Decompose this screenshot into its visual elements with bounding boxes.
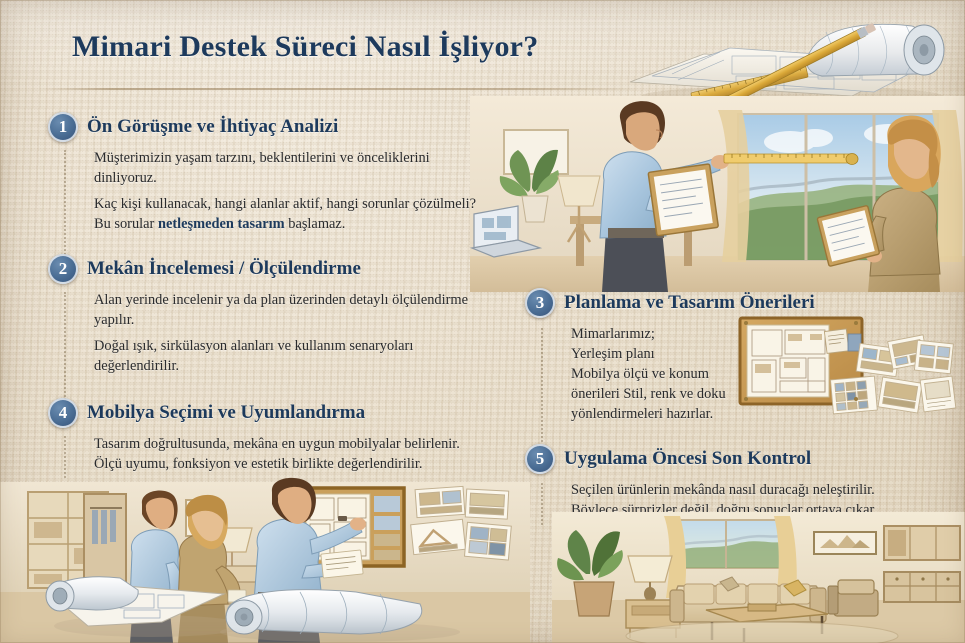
step-4-paragraph-1: Tasarım doğrultusunda, mekâna en uygun m… (94, 434, 518, 454)
infographic-poster: Mimari Destek Süreci Nasıl İşliyor? (0, 0, 965, 643)
step-2-number-badge: 2 (48, 254, 78, 284)
step-4: 4 Mobilya Seçimi ve Uyumlandırma Tasarım… (48, 398, 518, 474)
step-1-highlight: netleşmeden tasarım (158, 216, 285, 232)
step-1-header: 1 Ön Görüşme ve İhtiyaç Analizi (48, 112, 478, 142)
illustration-consultation-measuring-room (470, 96, 965, 292)
step-3-number-badge: 3 (525, 288, 555, 318)
step-5-title: Uygulama Öncesi Son Kontrol (564, 448, 811, 470)
step-2-title: Mekân İncelemesi / Ölçülendirme (87, 258, 361, 280)
step-4-body: Tasarım doğrultusunda, mekâna en uygun m… (94, 434, 518, 474)
step-5-paragraph-1: Seçilen ürünlerin mekânda nasıl duracağı… (571, 480, 955, 500)
illustration-pinboard-plans-samples (728, 312, 962, 430)
illustration-blueprint-roll-pencil-ruler (612, 4, 962, 106)
step-5: 5 Uygulama Öncesi Son Kontrol Seçilen ür… (525, 444, 955, 520)
step-2-paragraph-1: Alan yerinde incelenir ya da plan üzerin… (94, 290, 488, 330)
step-5-number-badge: 5 (525, 444, 555, 474)
step-1-highlight-tail: başlamaz. (285, 216, 346, 232)
step-4-header: 4 Mobilya Seçimi ve Uyumlandırma (48, 398, 518, 428)
page-title: Mimari Destek Süreci Nasıl İşliyor? (72, 30, 538, 64)
step-4-number-badge: 4 (48, 398, 78, 428)
step-4-title: Mobilya Seçimi ve Uyumlandırma (87, 402, 365, 424)
step-2-body: Alan yerinde incelenir ya da plan üzerin… (94, 290, 488, 376)
title-divider (40, 88, 640, 90)
step-5-header: 5 Uygulama Öncesi Son Kontrol (525, 444, 955, 474)
step-1: 1 Ön Görüşme ve İhtiyaç Analizi Müşterim… (48, 112, 478, 234)
step-2: 2 Mekân İncelemesi / Ölçülendirme Alan y… (48, 254, 488, 376)
illustration-team-reviewing-plan-board (0, 474, 530, 643)
illustration-furnished-living-room (552, 512, 965, 643)
step-2-paragraph-2: Doğal ışık, sirkülasyon alanları ve kull… (94, 336, 488, 376)
step-1-paragraph-2: Kaç kişi kullanacak, hangi alanlar aktif… (94, 194, 478, 234)
step-1-number-badge: 1 (48, 112, 78, 142)
step-1-title: Ön Görüşme ve İhtiyaç Analizi (87, 116, 338, 138)
step-1-body: Müşterimizin yaşam tarzını, beklentileri… (94, 148, 478, 234)
step-1-paragraph-1: Müşterimizin yaşam tarzını, beklentileri… (94, 148, 478, 188)
step-2-header: 2 Mekân İncelemesi / Ölçülendirme (48, 254, 488, 284)
step-3-title: Planlama ve Tasarım Önerileri (564, 292, 815, 314)
step-4-paragraph-2: Ölçü uyumu, fonksiyon ve estetik birlikt… (94, 454, 518, 474)
